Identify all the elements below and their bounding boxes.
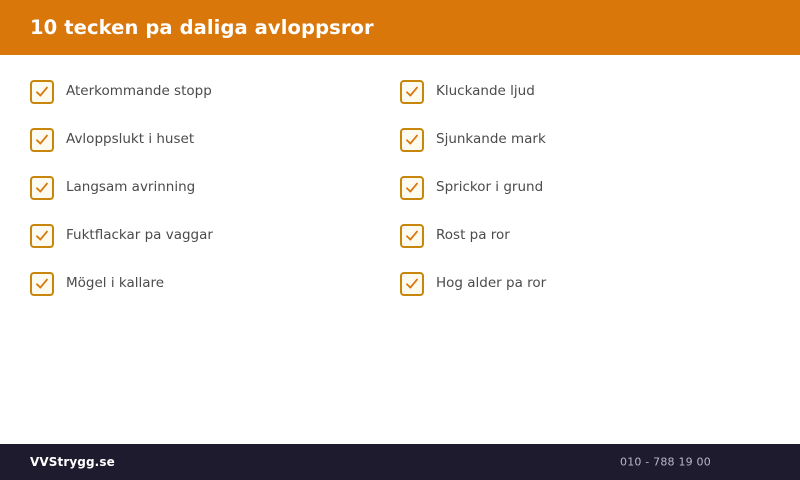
list-item-label: Aterkommande stopp [66, 85, 212, 99]
list-item-label: Mögel i kallare [66, 277, 164, 291]
checkmark-icon[interactable] [400, 176, 424, 200]
list-item-label: Rost pa ror [436, 229, 510, 243]
list-item[interactable]: Sjunkande mark [400, 128, 770, 152]
page-title: 10 tecken pa daliga avloppsror [30, 17, 374, 38]
checkmark-icon[interactable] [30, 128, 54, 152]
list-item-label: Sjunkande mark [436, 133, 546, 147]
list-item[interactable]: Fuktflackar pa vaggar [30, 224, 400, 248]
slide: 10 tecken pa daliga avloppsror Aterkomma… [0, 0, 800, 480]
list-item-label: Sprickor i grund [436, 181, 543, 195]
checkmark-icon[interactable] [30, 272, 54, 296]
list-item[interactable]: Langsam avrinning [30, 176, 400, 200]
list-item[interactable]: Aterkommande stopp [30, 80, 400, 104]
content-area: Aterkommande stopp Avloppslukt i huset [0, 55, 800, 444]
list-item-label: Fuktflackar pa vaggar [66, 229, 213, 243]
list-item[interactable]: Hog alder pa ror [400, 272, 770, 296]
checklist-column-left: Aterkommande stopp Avloppslukt i huset [30, 80, 400, 296]
checkmark-icon[interactable] [30, 224, 54, 248]
list-item[interactable]: Mögel i kallare [30, 272, 400, 296]
list-item[interactable]: Sprickor i grund [400, 176, 770, 200]
checklist: Aterkommande stopp Avloppslukt i huset [30, 80, 770, 296]
checkmark-icon[interactable] [30, 80, 54, 104]
list-item[interactable]: Rost pa ror [400, 224, 770, 248]
checkmark-icon[interactable] [400, 224, 424, 248]
checkmark-icon[interactable] [400, 128, 424, 152]
header-bar: 10 tecken pa daliga avloppsror [0, 0, 800, 55]
list-item-label: Kluckande ljud [436, 85, 535, 99]
list-item-label: Langsam avrinning [66, 181, 195, 195]
checklist-column-right: Kluckande ljud Sjunkande mark [400, 80, 770, 296]
list-item[interactable]: Avloppslukt i huset [30, 128, 400, 152]
list-item-label: Avloppslukt i huset [66, 133, 194, 147]
footer-brand[interactable]: VVStrygg.se [30, 455, 115, 469]
list-item-label: Hog alder pa ror [436, 277, 546, 291]
list-item[interactable]: Kluckande ljud [400, 80, 770, 104]
footer-bar: VVStrygg.se 010 - 788 19 00 [0, 444, 800, 480]
checkmark-icon[interactable] [30, 176, 54, 200]
checkmark-icon[interactable] [400, 272, 424, 296]
footer-phone-number[interactable]: 010 - 788 19 00 [620, 456, 711, 469]
checkmark-icon[interactable] [400, 80, 424, 104]
